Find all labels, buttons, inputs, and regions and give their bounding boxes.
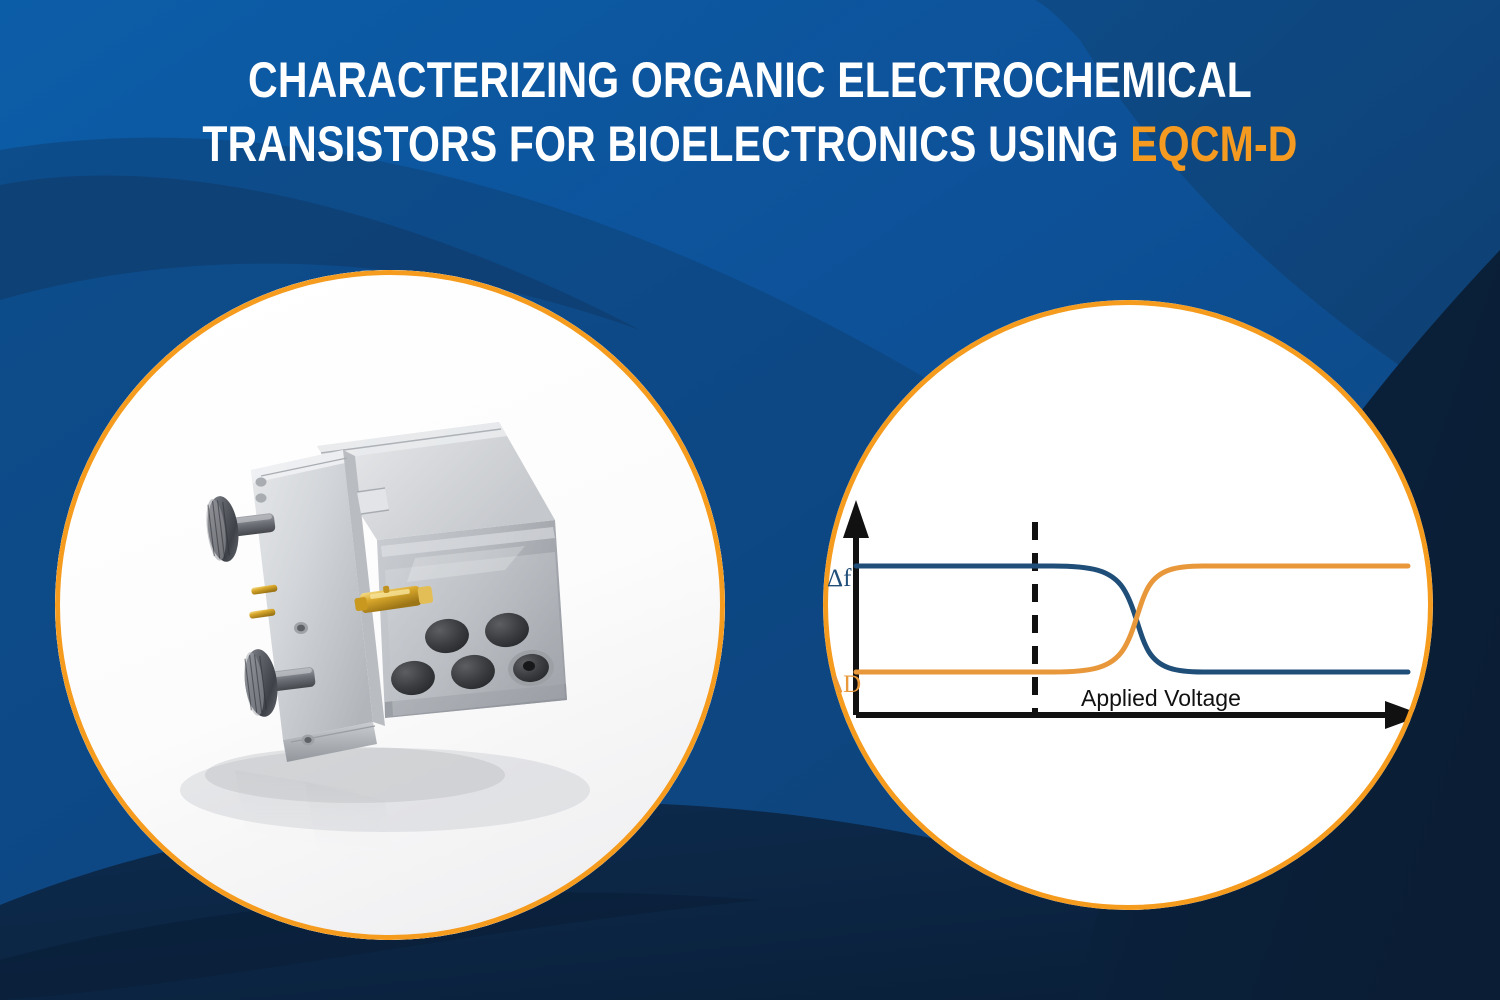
eqcm-d-response-chart (823, 300, 1433, 910)
concept-chart-circle: Δf ΔD Applied Voltage (823, 300, 1433, 910)
x-axis-label: Applied Voltage (1081, 685, 1241, 712)
series-label-delta-d: ΔD (827, 671, 861, 699)
x-axis-arrowhead (1385, 701, 1423, 729)
product-photo-circle (55, 270, 725, 940)
eqcm-d-flow-cell-module-illustration (55, 270, 725, 940)
series-delta-f-curve (856, 566, 1408, 672)
series-label-delta-f: Δf (827, 565, 851, 593)
series-delta-d-curve (856, 566, 1408, 672)
y-axis-arrowhead (843, 500, 869, 538)
banner-canvas: CHARACTERIZING ORGANIC ELECTROCHEMICAL T… (0, 0, 1500, 1000)
